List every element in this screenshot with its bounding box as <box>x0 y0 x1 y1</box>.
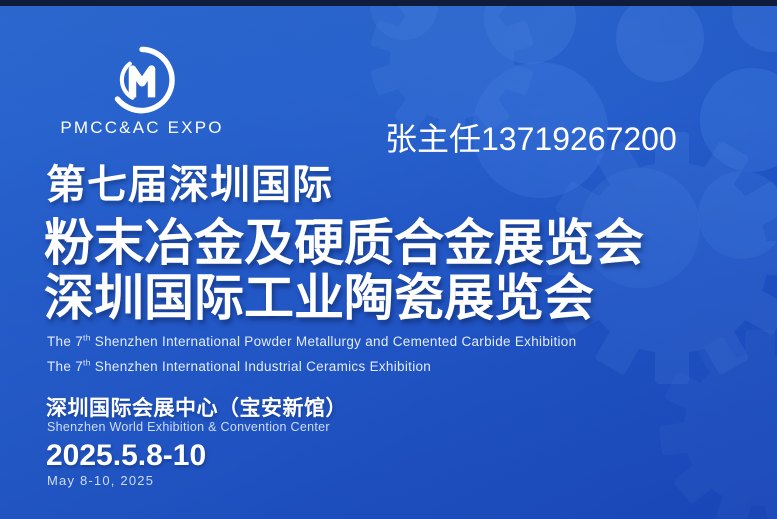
english-subtitle-1-ordinal: th <box>83 333 91 343</box>
english-subtitle-1-rest: Shenzhen International Powder Metallurgy… <box>91 334 577 349</box>
english-subtitle-line-2: The 7th Shenzhen International Industria… <box>47 359 431 374</box>
venue-name-english: Shenzhen World Exhibition & Convention C… <box>47 420 330 434</box>
contact-phone: 张主任13719267200 <box>385 114 677 160</box>
event-date-secondary: May 8-10, 2025 <box>47 473 154 488</box>
english-subtitle-line-1: The 7th Shenzhen International Powder Me… <box>47 334 576 349</box>
exhibition-title-line-2: 深圳国际工业陶瓷展览会 <box>44 258 594 330</box>
english-subtitle-1-prefix: The 7 <box>47 334 83 349</box>
english-subtitle-2-prefix: The 7 <box>47 359 83 374</box>
top-dark-strip <box>0 0 777 6</box>
venue-name-chinese: 深圳国际会展中心（宝安新馆） <box>46 392 347 422</box>
english-subtitle-2-ordinal: th <box>83 358 91 368</box>
pmcc-m-circle-logo-icon <box>108 46 176 114</box>
banner-content: PMCC&AC EXPO 张主任13719267200 第七届深圳国际 粉末冶金… <box>0 0 777 519</box>
english-subtitle-2-rest: Shenzhen International Industrial Cerami… <box>91 359 431 374</box>
exhibition-promo-banner: PMCC&AC EXPO 张主任13719267200 第七届深圳国际 粉末冶金… <box>0 0 777 519</box>
event-date-primary: 2025.5.8-10 <box>46 439 206 473</box>
logo-wordmark: PMCC&AC EXPO <box>44 118 240 138</box>
edition-label: 第七届深圳国际 <box>46 152 333 210</box>
logo-block: PMCC&AC EXPO <box>44 46 240 138</box>
